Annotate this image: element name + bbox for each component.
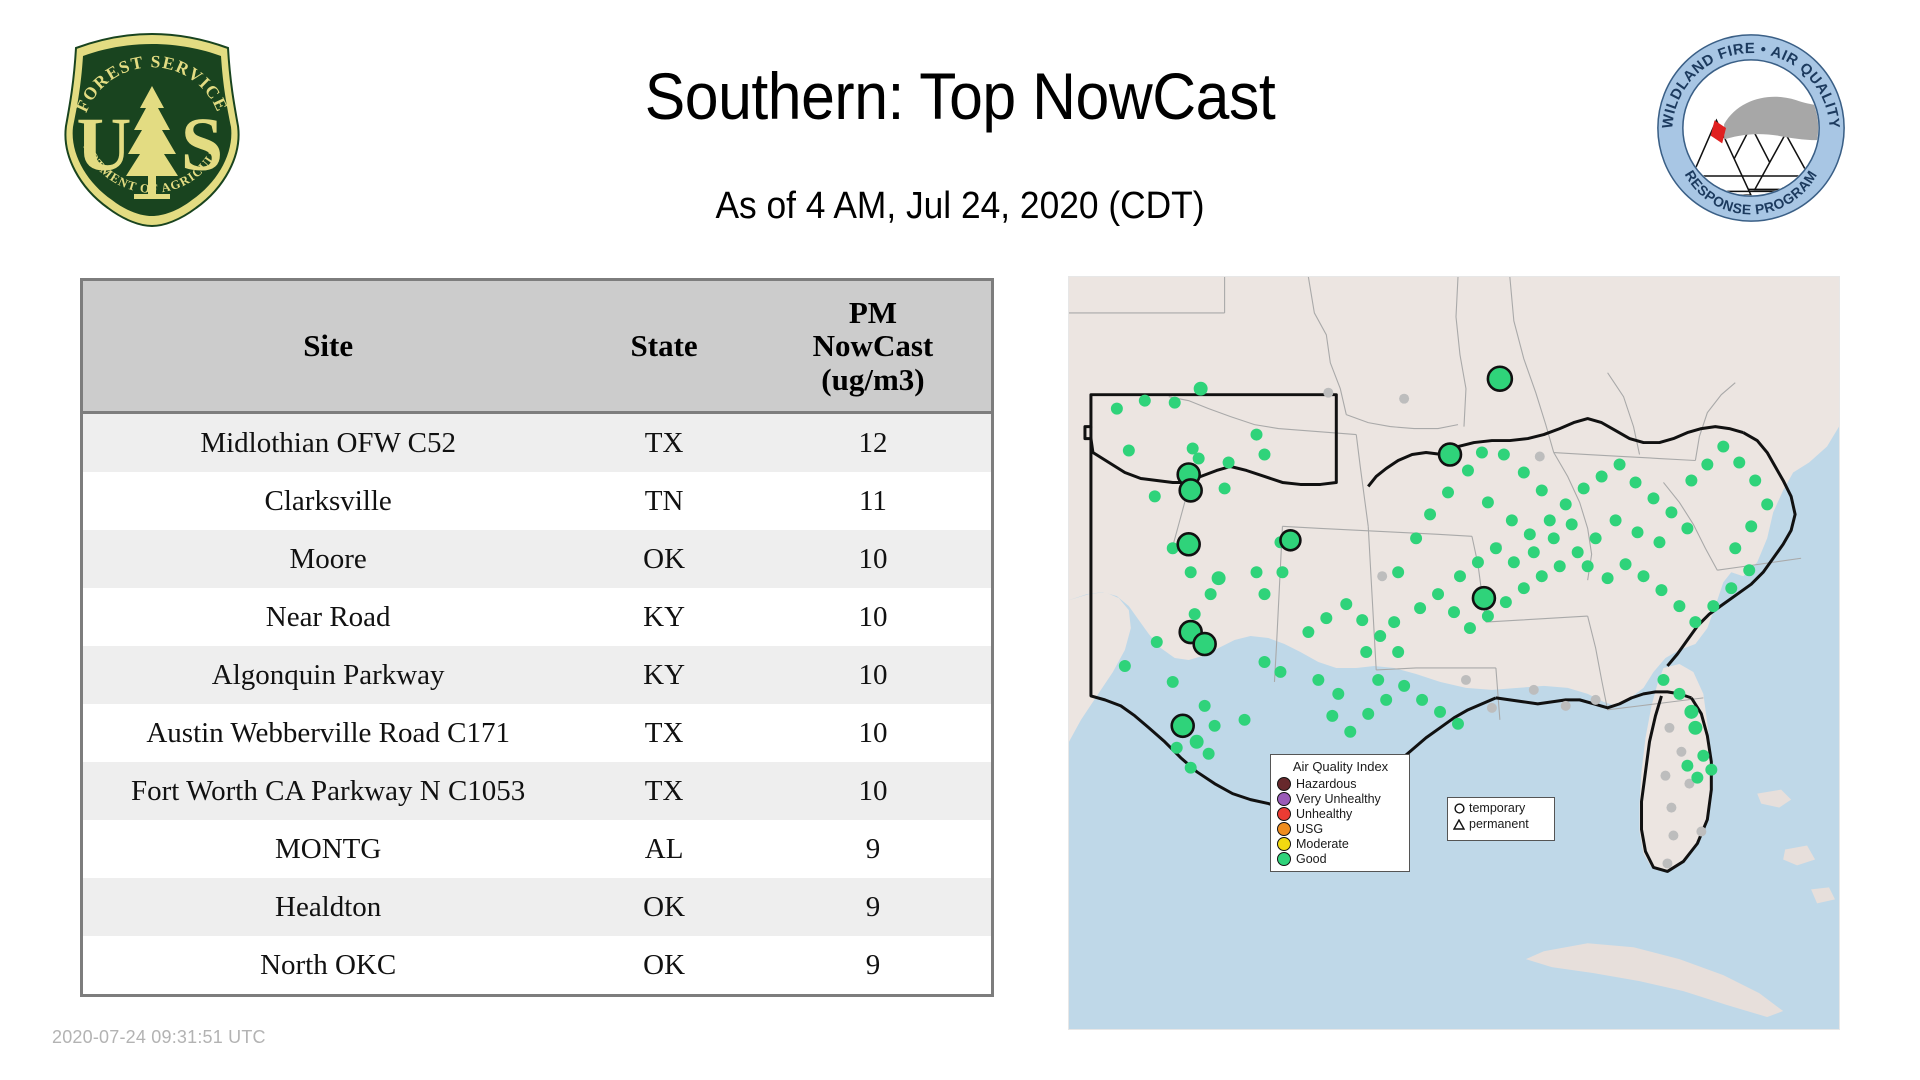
site-cell: Austin Webberville Road C171 [83, 704, 573, 762]
top-site-marker [1180, 479, 1202, 501]
state-cell: KY [573, 646, 755, 704]
top-site-marker [1439, 444, 1461, 466]
column-header-pm-nowcast: PM NowCast (ug/m3) [755, 281, 991, 413]
state-cell: OK [573, 936, 755, 994]
site-cell: Fort Worth CA Parkway N C1053 [83, 762, 573, 820]
legend-temporary: temporary [1452, 800, 1550, 816]
table-row[interactable]: Algonquin ParkwayKY10 [83, 646, 991, 704]
site-cell: Midlothian OFW C52 [83, 413, 573, 473]
aqi-swatch-icon [1277, 807, 1291, 821]
pm-nowcast-cell: 10 [755, 530, 991, 588]
aqi-legend-item: Moderate [1277, 836, 1404, 851]
aqi-legend-label: Moderate [1296, 837, 1349, 851]
pm-nowcast-cell: 9 [755, 878, 991, 936]
site-cell: Clarksville [83, 472, 573, 530]
site-cell: Algonquin Parkway [83, 646, 573, 704]
aqi-legend-item: Good [1277, 851, 1404, 866]
state-cell: AL [573, 820, 755, 878]
table-row[interactable]: North OKCOK9 [83, 936, 991, 994]
legend-temporary-label: temporary [1469, 801, 1525, 815]
table-row[interactable]: Fort Worth CA Parkway N C1053TX10 [83, 762, 991, 820]
state-cell: TX [573, 704, 755, 762]
circle-icon [1452, 803, 1466, 814]
monitor-type-legend: temporary permanent [1447, 797, 1555, 841]
aqi-legend-label: Unhealthy [1296, 807, 1352, 821]
site-cell: Near Road [83, 588, 573, 646]
triangle-icon [1452, 819, 1466, 830]
top-site-marker [1178, 533, 1200, 555]
state-cell: TX [573, 762, 755, 820]
map-canvas [1069, 277, 1839, 1029]
state-cell: TX [573, 413, 755, 473]
aqi-legend-item: Very Unhealthy [1277, 791, 1404, 806]
table-row[interactable]: ClarksvilleTN11 [83, 472, 991, 530]
aqi-legend-label: Hazardous [1296, 777, 1356, 791]
table-row[interactable]: HealdtonOK9 [83, 878, 991, 936]
table-row[interactable]: Near RoadKY10 [83, 588, 991, 646]
aqi-legend-title: Air Quality Index [1277, 759, 1404, 774]
pm-header-line-3: (ug/m3) [759, 363, 987, 396]
table-row[interactable]: MooreOK10 [83, 530, 991, 588]
table-row[interactable]: Austin Webberville Road C171TX10 [83, 704, 991, 762]
pm-header-line-2: NowCast [759, 329, 987, 362]
page-subtitle: As of 4 AM, Jul 24, 2020 (CDT) [402, 185, 1518, 228]
top-site-marker [1473, 587, 1495, 609]
wildland-fire-air-quality-logo: WILDLAND FIRE • AIR QUALITY RESPONSE PRO… [1655, 32, 1847, 224]
pm-nowcast-cell: 9 [755, 936, 991, 994]
pm-nowcast-cell: 10 [755, 704, 991, 762]
usfs-letter-s: S [181, 103, 223, 187]
top-site-marker [1172, 715, 1194, 737]
aqi-swatch-icon [1277, 837, 1291, 851]
column-header-site: Site [83, 281, 573, 413]
aqi-swatch-icon [1277, 777, 1291, 791]
pm-nowcast-cell: 12 [755, 413, 991, 473]
pm-nowcast-cell: 9 [755, 820, 991, 878]
table-row[interactable]: MONTGAL9 [83, 820, 991, 878]
usfs-letter-u: U [77, 103, 132, 187]
site-cell: Healdton [83, 878, 573, 936]
aqi-swatch-icon [1277, 792, 1291, 806]
aqi-legend-label: USG [1296, 822, 1323, 836]
state-cell: TN [573, 472, 755, 530]
site-cell: MONTG [83, 820, 573, 878]
pm-nowcast-cell: 10 [755, 588, 991, 646]
usfs-shield-logo: FOREST SERVICE DEPARTMENT OF AGRICULTURE… [52, 30, 252, 230]
top-site-marker [1280, 530, 1300, 550]
pm-nowcast-cell: 10 [755, 646, 991, 704]
top-site-marker [1194, 633, 1216, 655]
top-nowcast-table: Site State PM NowCast (ug/m3) Midlothian… [80, 278, 994, 997]
table-row[interactable]: Midlothian OFW C52TX12 [83, 413, 991, 473]
legend-permanent-label: permanent [1469, 817, 1529, 831]
render-timestamp: 2020-07-24 09:31:51 UTC [52, 1027, 266, 1048]
top-site-marker [1488, 367, 1512, 391]
aqi-swatch-icon [1277, 852, 1291, 866]
state-cell: OK [573, 530, 755, 588]
aqi-legend: Air Quality Index HazardousVery Unhealth… [1270, 754, 1410, 872]
aqi-legend-item: USG [1277, 821, 1404, 836]
state-cell: OK [573, 878, 755, 936]
aqi-legend-label: Very Unhealthy [1296, 792, 1381, 806]
page-title: Southern: Top NowCast [408, 58, 1512, 134]
aqi-monitor-map[interactable] [1068, 276, 1840, 1030]
pm-nowcast-cell: 11 [755, 472, 991, 530]
state-cell: KY [573, 588, 755, 646]
legend-permanent: permanent [1452, 816, 1550, 832]
aqi-legend-item: Unhealthy [1277, 806, 1404, 821]
site-cell: North OKC [83, 936, 573, 994]
table-header-row: Site State PM NowCast (ug/m3) [83, 281, 991, 413]
aqi-swatch-icon [1277, 822, 1291, 836]
pm-nowcast-cell: 10 [755, 762, 991, 820]
aqi-legend-label: Good [1296, 852, 1327, 866]
column-header-state: State [573, 281, 755, 413]
site-cell: Moore [83, 530, 573, 588]
pm-header-line-1: PM [759, 296, 987, 329]
aqi-legend-item: Hazardous [1277, 776, 1404, 791]
